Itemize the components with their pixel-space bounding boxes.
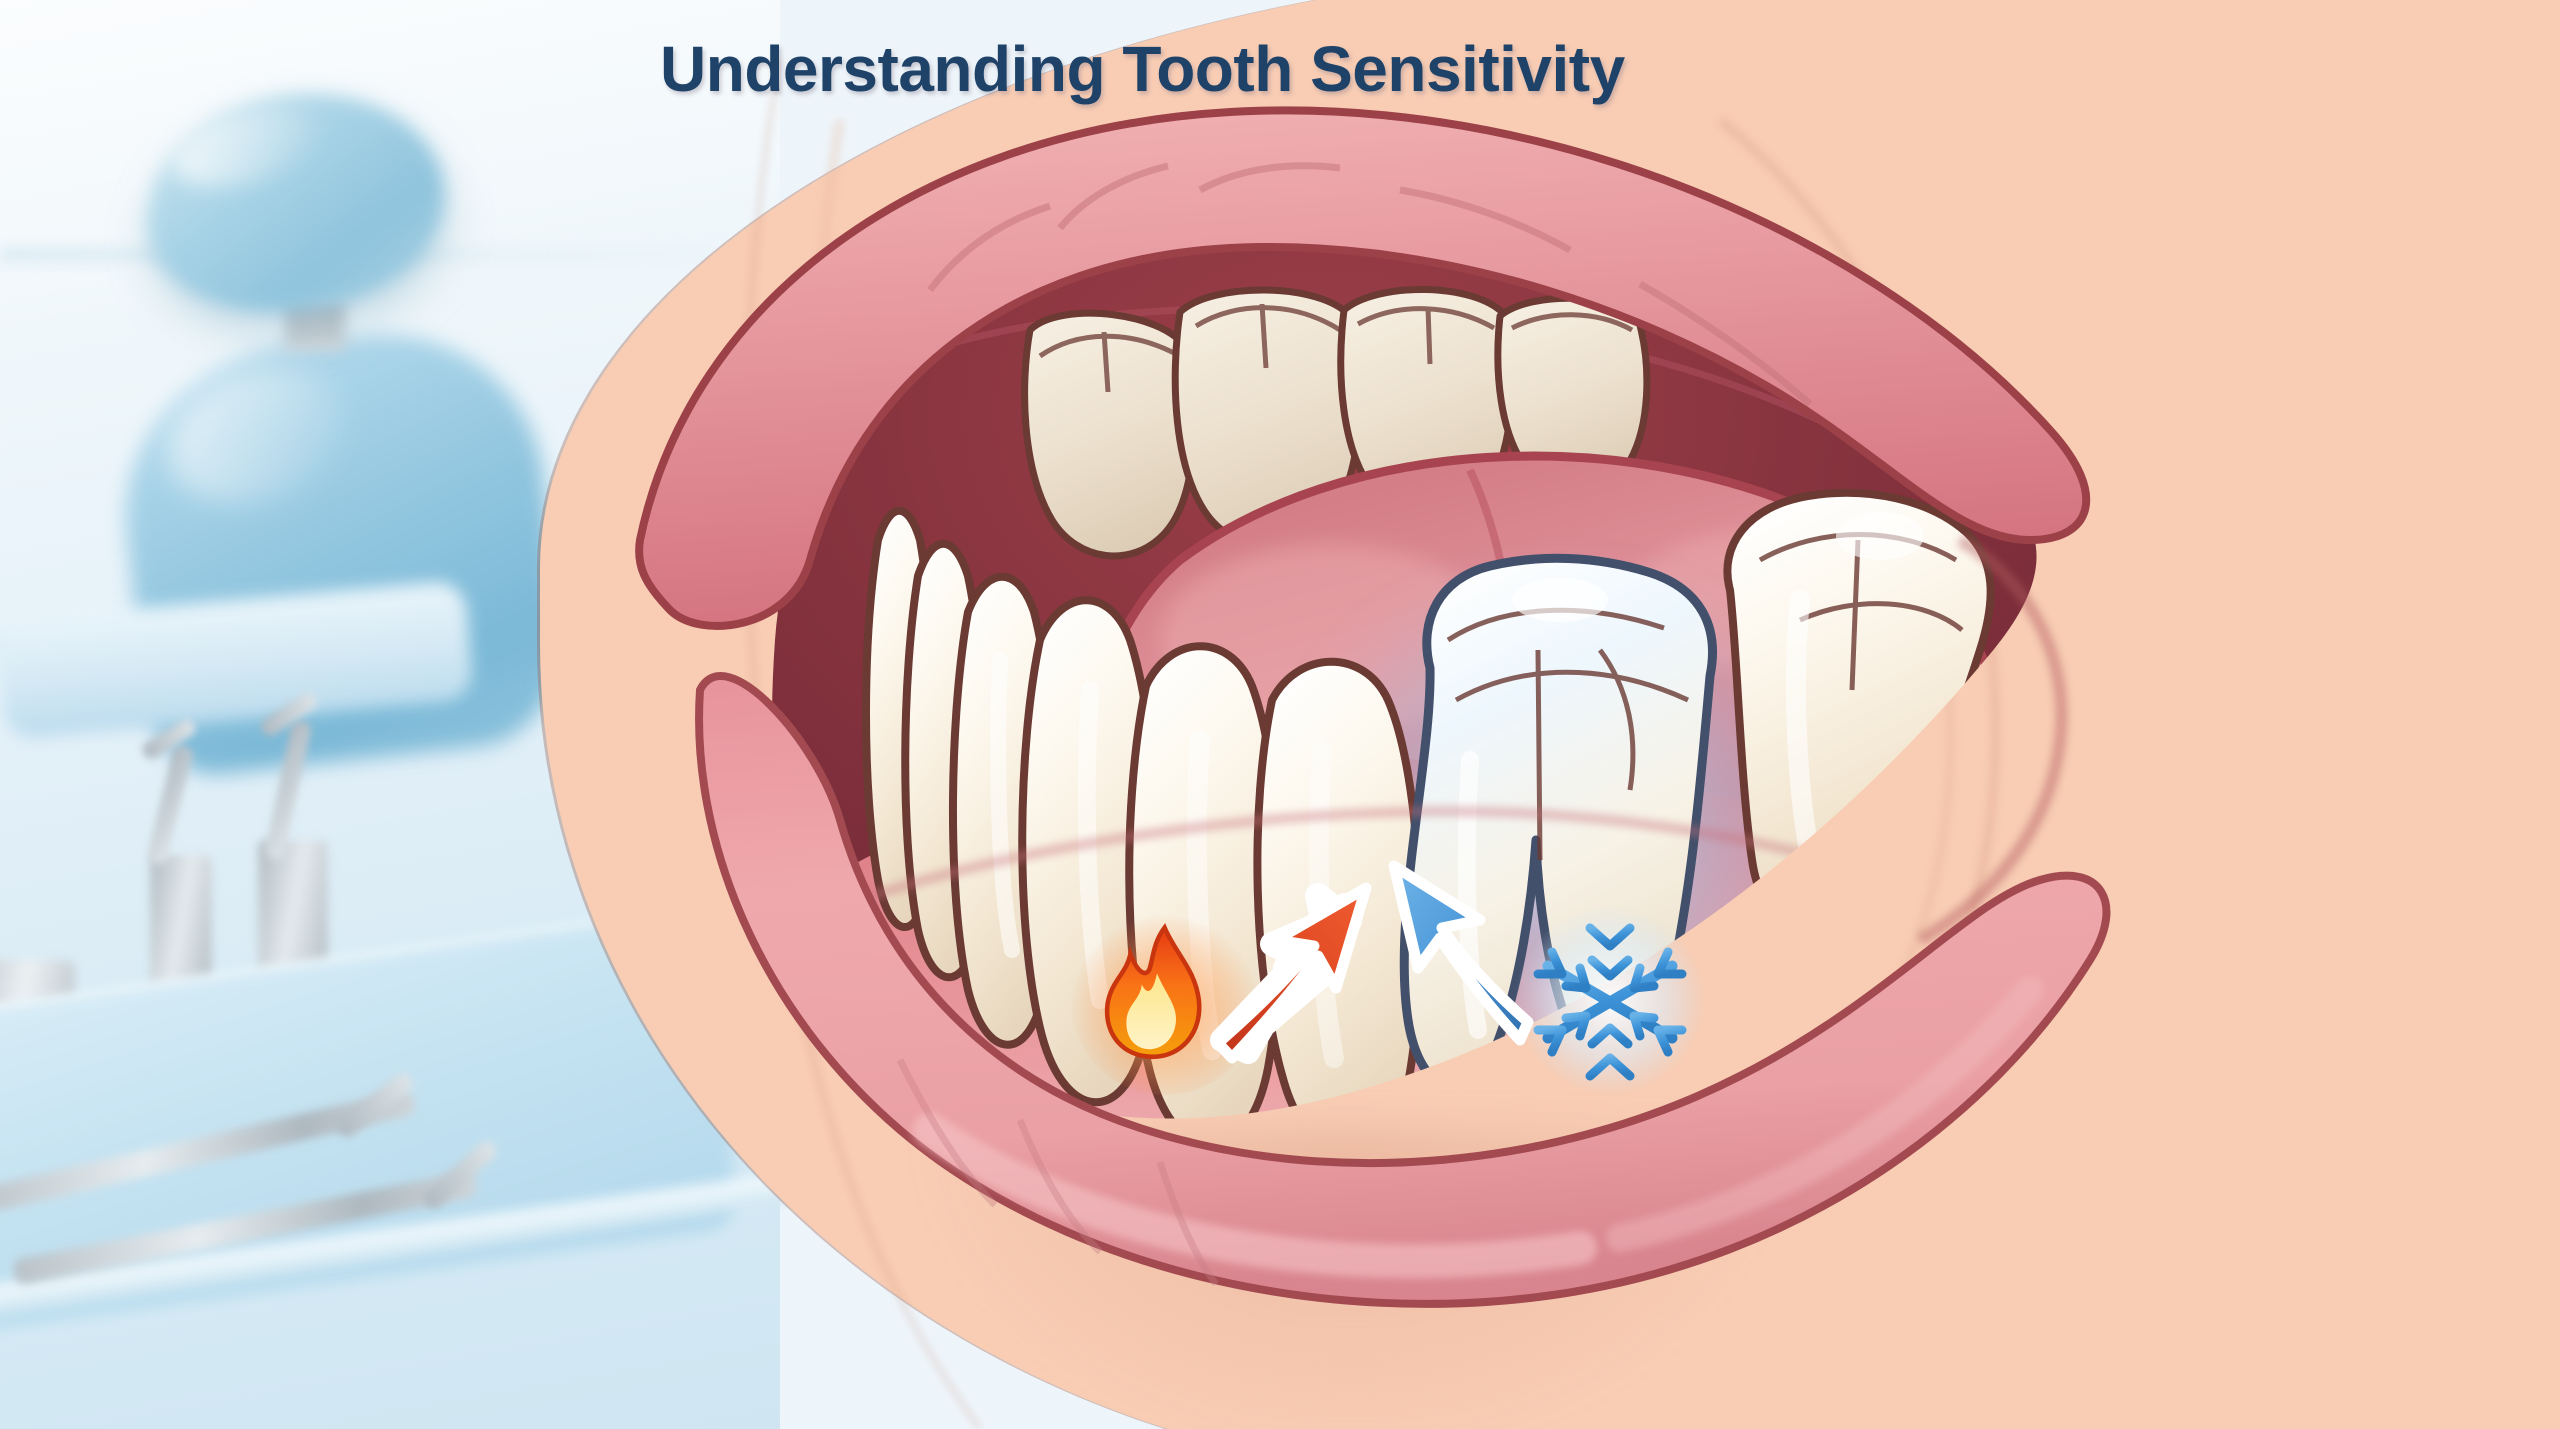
mouth-illustration: [0, 0, 2560, 1429]
illustration-canvas: Understanding Tooth Sensitivity: [0, 0, 2560, 1429]
page-title: Understanding Tooth Sensitivity: [660, 32, 1625, 106]
